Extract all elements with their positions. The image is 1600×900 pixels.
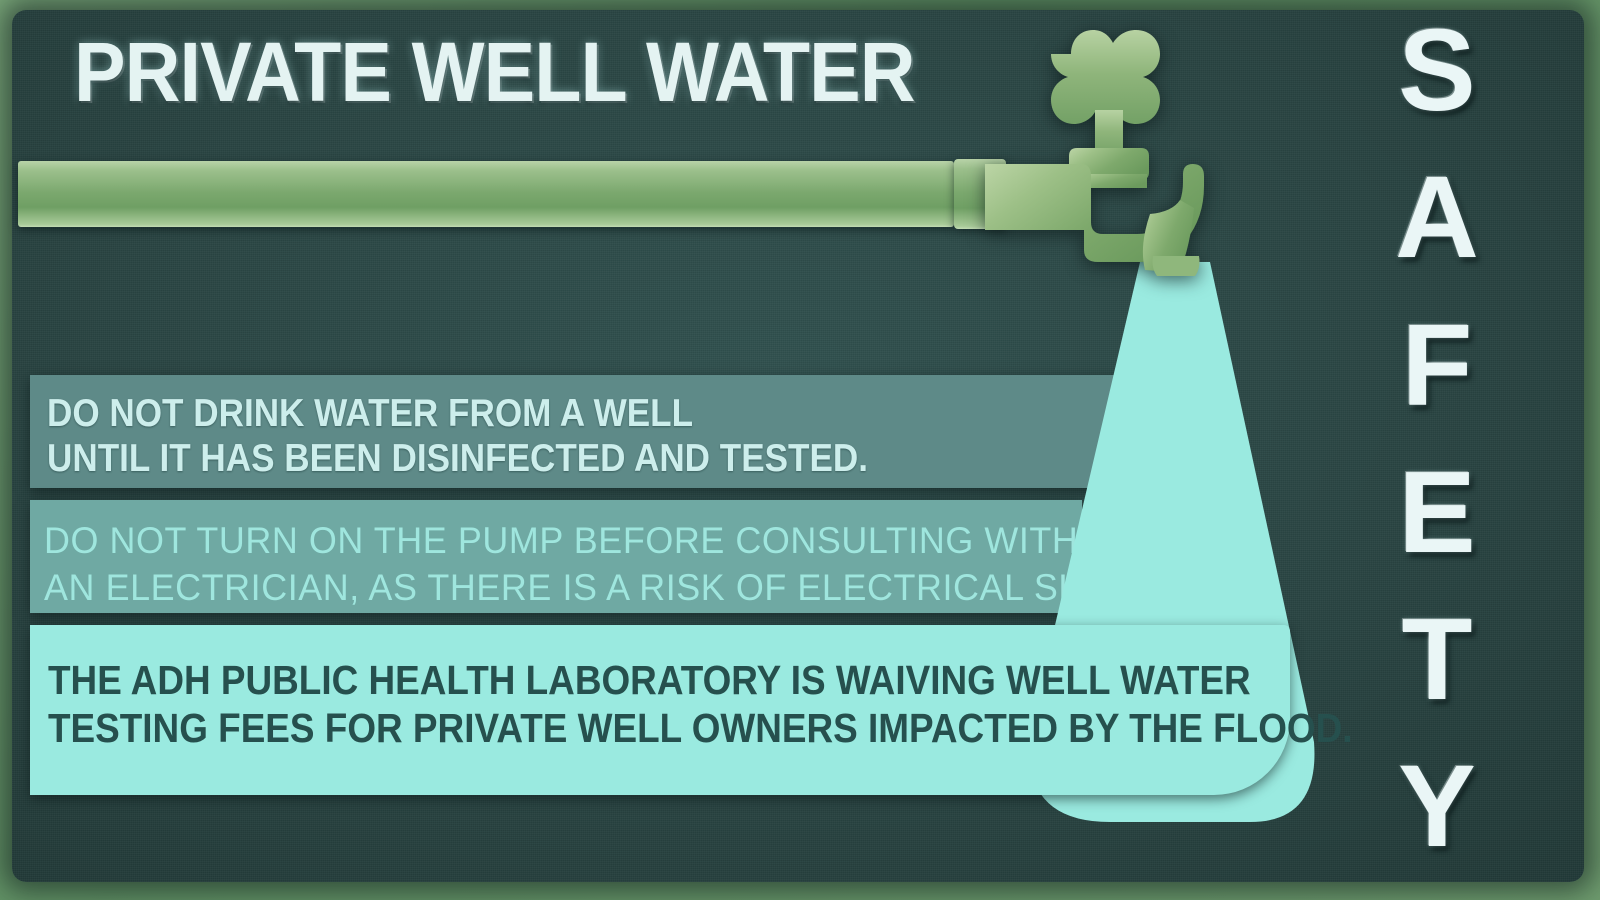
poster-canvas: PRIVATE WELL WATER	[0, 0, 1600, 900]
safety-letter-f: F	[1402, 309, 1473, 423]
msg1-line1: DO NOT DRINK WATER FROM A WELL	[47, 391, 868, 436]
msg1-line2: UNTIL IT HAS BEEN DISINFECTED AND TESTED…	[47, 436, 868, 481]
notice-box-adh-fee-waiver: THE ADH PUBLIC HEALTH LABORATORY IS WAIV…	[30, 625, 1290, 795]
msg3-line1: THE ADH PUBLIC HEALTH LABORATORY IS WAIV…	[48, 656, 1353, 704]
msg2-line1: DO NOT TURN ON THE PUMP BEFORE CONSULTIN…	[44, 517, 1175, 564]
safety-letter-y: Y	[1398, 750, 1475, 864]
warning-text-do-not-drink: DO NOT DRINK WATER FROM A WELL UNTIL IT …	[47, 391, 868, 481]
pipe-bar-icon	[18, 161, 954, 227]
warning-text-do-not-turn-on-pump: DO NOT TURN ON THE PUMP BEFORE CONSULTIN…	[44, 517, 1175, 611]
safety-letter-a: A	[1395, 161, 1479, 275]
vertical-safety-word: S A F E T Y	[1352, 14, 1522, 864]
safety-letter-t: T	[1402, 603, 1473, 717]
msg2-line2: AN ELECTRICIAN, AS THERE IS A RISK OF EL…	[44, 564, 1175, 611]
safety-letter-s: S	[1398, 14, 1475, 128]
page-title: PRIVATE WELL WATER	[74, 24, 915, 121]
msg3-line2: TESTING FEES FOR PRIVATE WELL OWNERS IMP…	[48, 704, 1353, 752]
faucet-tap-icon	[975, 18, 1225, 293]
safety-letter-e: E	[1398, 456, 1475, 570]
warning-box-do-not-turn-on-pump: DO NOT TURN ON THE PUMP BEFORE CONSULTIN…	[30, 500, 1082, 613]
warning-box-do-not-drink: DO NOT DRINK WATER FROM A WELL UNTIL IT …	[30, 375, 1142, 488]
notice-text-adh-fee-waiver: THE ADH PUBLIC HEALTH LABORATORY IS WAIV…	[48, 656, 1353, 752]
